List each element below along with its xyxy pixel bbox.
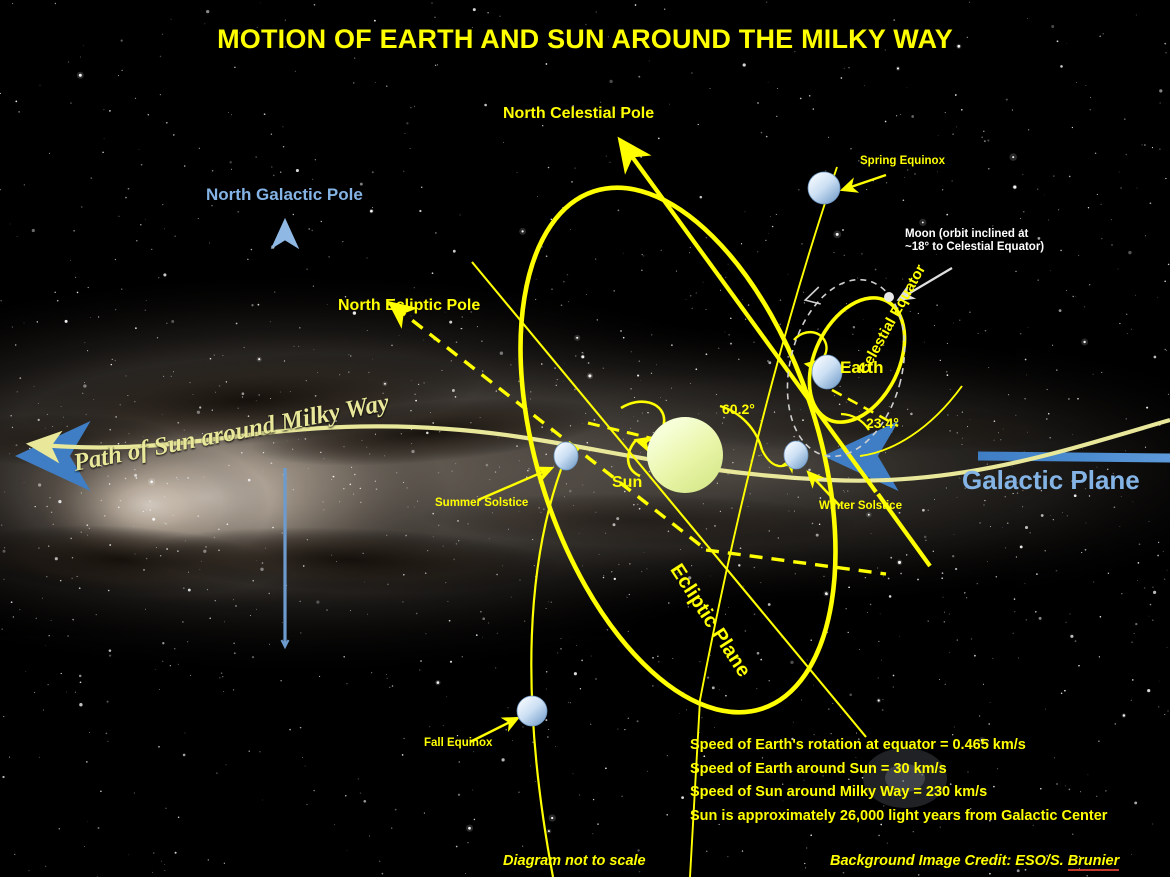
label-moon: Moon (orbit inclined at ~18° to Celestia… bbox=[905, 228, 1044, 254]
angle-label-23: 23.4° bbox=[866, 415, 899, 431]
image-credit-name: Brunier bbox=[1068, 853, 1120, 871]
label-fall-equinox: Fall Equinox bbox=[424, 737, 492, 750]
label-moon-line2: ~18° to Celestial Equator) bbox=[905, 241, 1044, 254]
label-moon-line1: Moon (orbit inclined at bbox=[905, 228, 1044, 241]
scale-note: Diagram not to scale bbox=[503, 853, 646, 869]
fact-item: Speed of Sun around Milky Way = 230 km/s bbox=[690, 781, 1107, 805]
summer-solstice-body bbox=[554, 442, 578, 470]
fall-equinox-body bbox=[517, 696, 547, 726]
label-spring-equinox: Spring Equinox bbox=[860, 155, 945, 168]
diagram-canvas: MOTION OF EARTH AND SUN AROUND THE MILKY… bbox=[0, 0, 1170, 877]
facts-list: Speed of Earth's rotation at equator = 0… bbox=[690, 734, 1107, 828]
spring-equinox-body bbox=[808, 172, 840, 204]
label-north-ecliptic-pole: North Ecliptic Pole bbox=[338, 297, 480, 315]
label-winter-solstice: Winter Solstice bbox=[819, 500, 902, 513]
angle-label-60: 60.2° bbox=[722, 401, 755, 417]
image-credit-prefix: Background Image Credit: ESO/S. bbox=[830, 853, 1068, 869]
earth-body bbox=[812, 355, 842, 389]
galactic-plane-line bbox=[24, 456, 1170, 458]
label-north-galactic-pole: North Galactic Pole bbox=[206, 185, 363, 205]
label-north-celestial-pole: North Celestial Pole bbox=[503, 105, 654, 123]
page-title: MOTION OF EARTH AND SUN AROUND THE MILKY… bbox=[0, 24, 1170, 55]
fact-item: Speed of Earth around Sun = 30 km/s bbox=[690, 758, 1107, 782]
winter-solstice-body bbox=[784, 441, 808, 469]
label-sun: Sun bbox=[612, 474, 642, 492]
image-credit: Background Image Credit: ESO/S. Brunier bbox=[830, 853, 1119, 869]
north-ecliptic-pole-arrow bbox=[390, 303, 886, 574]
label-summer-solstice: Summer Solstice bbox=[435, 497, 528, 510]
fact-item: Sun is approximately 26,000 light years … bbox=[690, 805, 1107, 829]
sun-body bbox=[647, 417, 723, 493]
fact-item: Speed of Earth's rotation at equator = 0… bbox=[690, 734, 1107, 758]
label-galactic-plane: Galactic Plane bbox=[962, 466, 1140, 496]
